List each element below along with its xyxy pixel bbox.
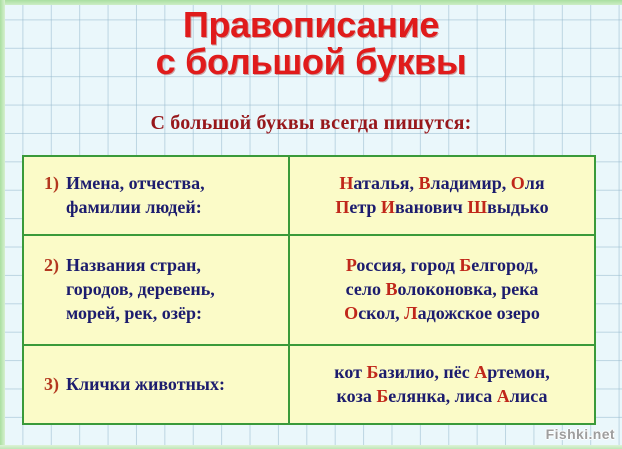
- example-word-part: оссия, город: [356, 255, 459, 275]
- rule-line: городов, деревень,: [66, 278, 215, 302]
- table-row: 2) Названия стран, городов, деревень, мо…: [24, 236, 594, 346]
- example-word-part: етр: [349, 197, 381, 217]
- title-line-1: Правописание: [0, 6, 622, 43]
- example-word-part: лиса: [510, 386, 548, 406]
- example-cell: Россия, город Белгород,село Волоконовка,…: [290, 236, 594, 344]
- rule-description: Названия стран, городов, деревень, морей…: [66, 254, 215, 325]
- rule-cell: 1) Имена, отчества, фамилии людей:: [24, 157, 290, 234]
- capital-letter: О: [511, 173, 525, 193]
- paper-edge-bottom: [0, 445, 622, 449]
- capital-letter: В: [419, 173, 431, 193]
- rule-line: Клички животных:: [66, 373, 225, 397]
- capital-letter: О: [344, 303, 358, 323]
- rule-line: Названия стран,: [66, 254, 215, 278]
- example-word-part: ртемон,: [487, 362, 550, 382]
- example-word-part: коза: [337, 386, 377, 406]
- poster-root: Правописание с большой буквы С большой б…: [0, 0, 622, 449]
- rule-line: Имена, отчества,: [66, 172, 205, 196]
- table-row: 3) Клички животных: кот Базилио, пёс Арт…: [24, 346, 594, 423]
- rule-line: фамилии людей:: [66, 196, 205, 220]
- page-title: Правописание с большой буквы: [0, 6, 622, 80]
- example-word-part: ладимир,: [431, 173, 511, 193]
- example-line: Россия, город Белгород,: [344, 254, 540, 278]
- example-word-part: село: [346, 279, 386, 299]
- capital-letter: Р: [346, 255, 357, 275]
- rule-number: 1): [44, 172, 59, 194]
- capital-letter: Н: [339, 173, 353, 193]
- example-cell: кот Базилио, пёс Артемон,коза Белянка, л…: [290, 346, 594, 423]
- example-text: кот Базилио, пёс Артемон,коза Белянка, л…: [334, 361, 550, 409]
- capital-letter: И: [381, 197, 395, 217]
- rule-description: Клички животных:: [66, 373, 225, 397]
- capital-letter: А: [474, 362, 487, 382]
- example-word-part: азилио, пёс: [378, 362, 474, 382]
- example-line: село Волоконовка, река: [344, 278, 540, 302]
- example-word-part: выдько: [487, 197, 549, 217]
- example-word-part: адожское озеро: [418, 303, 540, 323]
- rule-cell: 2) Названия стран, городов, деревень, мо…: [24, 236, 290, 344]
- rule-number: 2): [44, 254, 59, 276]
- rule-description: Имена, отчества, фамилии людей:: [66, 172, 205, 220]
- example-word-part: ванович: [395, 197, 467, 217]
- capital-letter: Б: [459, 255, 471, 275]
- example-line: Оскол, Ладожское озеро: [344, 302, 540, 326]
- example-word-part: елгород,: [471, 255, 538, 275]
- site-watermark: Fishki.net: [546, 426, 615, 442]
- example-word-part: ля: [525, 173, 545, 193]
- capital-letter: А: [497, 386, 510, 406]
- rules-table: 1) Имена, отчества, фамилии людей: Натал…: [22, 155, 596, 425]
- title-line-2: с большой буквы: [0, 43, 622, 80]
- example-word-part: елянка, лиса: [388, 386, 496, 406]
- example-word-part: кот: [334, 362, 366, 382]
- example-line: Наталья, Владимир, Оля: [335, 172, 548, 196]
- example-word-part: скол,: [358, 303, 404, 323]
- rule-line: морей, рек, озёр:: [66, 302, 215, 326]
- example-word-part: олоконовка, река: [397, 279, 538, 299]
- capital-letter: П: [335, 197, 349, 217]
- example-text: Россия, город Белгород,село Волоконовка,…: [344, 254, 540, 326]
- example-line: кот Базилио, пёс Артемон,: [334, 361, 550, 385]
- example-word-part: аталья,: [353, 173, 418, 193]
- rule-number: 3): [44, 373, 59, 395]
- example-line: коза Белянка, лиса Алиса: [334, 385, 550, 409]
- example-text: Наталья, Владимир, ОляПетр Иванович Швыд…: [335, 172, 548, 220]
- capital-letter: Б: [376, 386, 388, 406]
- subtitle: С большой буквы всегда пишутся:: [0, 112, 622, 135]
- capital-letter: В: [385, 279, 397, 299]
- table-row: 1) Имена, отчества, фамилии людей: Натал…: [24, 157, 594, 236]
- rule-cell: 3) Клички животных:: [24, 346, 290, 423]
- capital-letter: Б: [366, 362, 378, 382]
- capital-letter: Л: [404, 303, 417, 323]
- example-line: Петр Иванович Швыдько: [335, 196, 548, 220]
- example-cell: Наталья, Владимир, ОляПетр Иванович Швыд…: [290, 157, 594, 234]
- capital-letter: Ш: [467, 197, 487, 217]
